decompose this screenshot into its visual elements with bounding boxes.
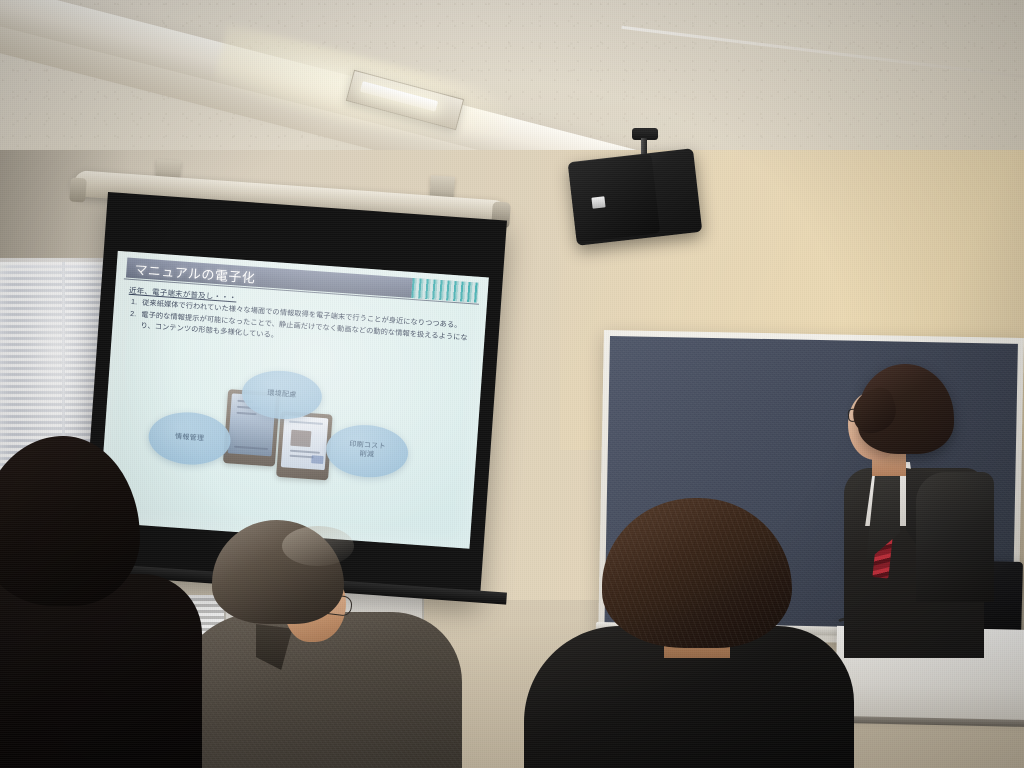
speaker-grille bbox=[568, 154, 661, 243]
screen-roller-cap-left bbox=[69, 177, 87, 202]
photo-scene: マニュアルの電子化 近年、電子端末が普及し・・・ 1. 従来紙媒体で行われていた… bbox=[0, 0, 1024, 768]
diagram-label-environment: 環境配慮 bbox=[267, 390, 297, 401]
tablet-device-right bbox=[276, 411, 333, 481]
speaker-badge-icon bbox=[591, 196, 605, 208]
presenter-shoulder bbox=[916, 472, 994, 602]
slide-bullet-list: 1. 従来紙媒体で行われていた様々な場面での情報取得を電子端末で行うことが身近に… bbox=[126, 297, 472, 357]
audience-member-right bbox=[524, 498, 864, 768]
hair-highlight bbox=[282, 526, 354, 566]
bullet-number: 1. bbox=[128, 297, 138, 308]
diagram-ellipse-print-cost: 印刷コスト 削減 bbox=[324, 422, 410, 480]
audience-left-body bbox=[0, 574, 202, 768]
diagram-label-print-cost: 印刷コスト 削減 bbox=[348, 441, 386, 461]
audience-member-left bbox=[0, 436, 230, 768]
audience-middle-hair bbox=[212, 520, 344, 624]
tablet-screen-right bbox=[281, 415, 329, 470]
slide-title: マニュアルの電子化 bbox=[126, 258, 256, 286]
bullet-number: 2. bbox=[126, 309, 136, 330]
audience-left-head bbox=[0, 436, 140, 606]
hair-texture bbox=[602, 498, 792, 648]
audience-right-hair bbox=[602, 498, 792, 648]
